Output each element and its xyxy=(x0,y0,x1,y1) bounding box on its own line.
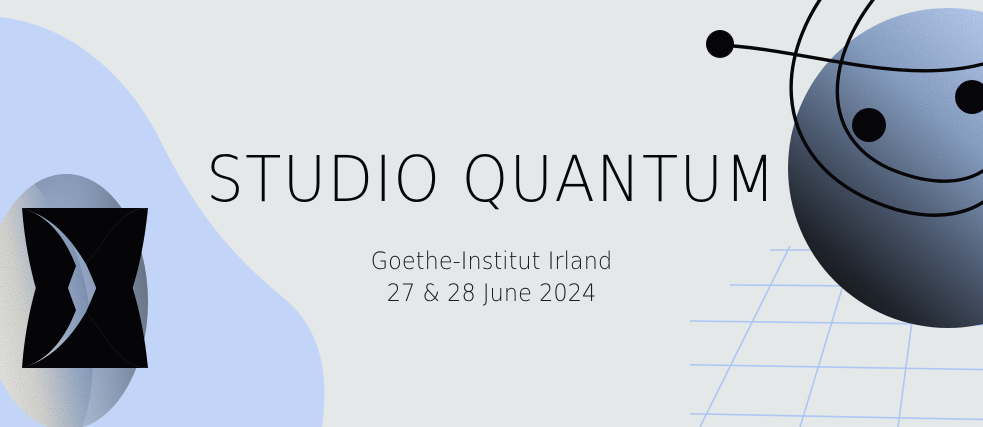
orbit-node-left xyxy=(706,30,734,58)
graphics-layer xyxy=(0,0,983,427)
poster-canvas: STUDIO QUANTUM Goethe-Institut Irland 27… xyxy=(0,0,983,427)
orbit-node-mid xyxy=(852,108,886,142)
